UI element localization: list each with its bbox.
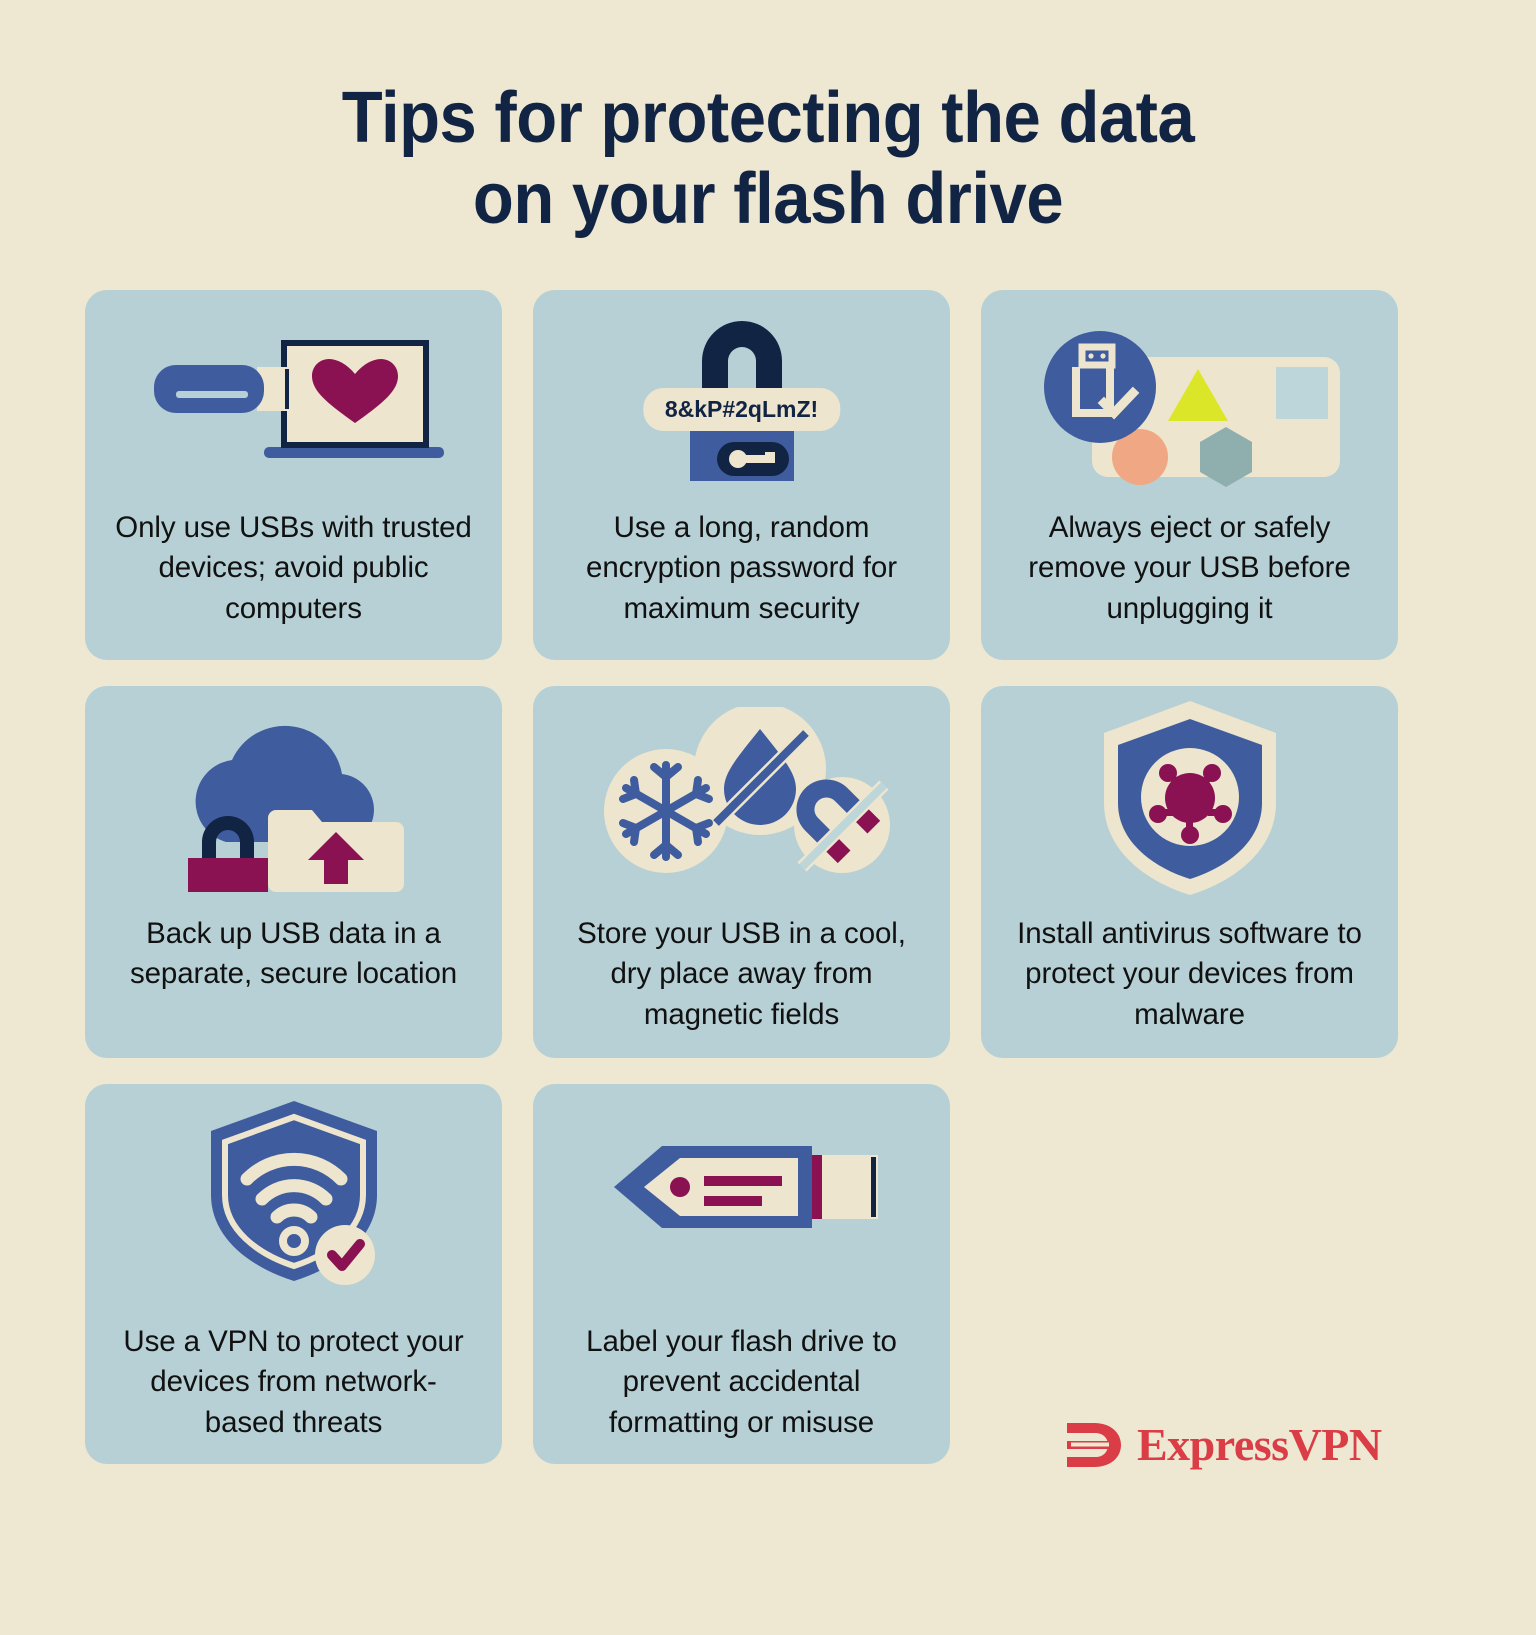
tip-card-store-cool-dry: Store your USB in a cool, dry place away…: [533, 686, 950, 1058]
title-line-2: on your flash drive: [54, 159, 1482, 240]
page-title: Tips for protecting the data on your fla…: [0, 0, 1536, 239]
tips-grid: Only use USBs with trusted devices; avoi…: [85, 290, 1397, 1464]
tip-card-install-antivirus: Install antivirus software to protect yo…: [981, 686, 1398, 1058]
infographic-page: Tips for protecting the data on your fla…: [0, 0, 1536, 1635]
tip-card-text: Use a long, random encryption password f…: [533, 508, 950, 629]
tip-card-usb-trusted-devices: Only use USBs with trusted devices; avoi…: [85, 290, 502, 660]
tip-card-text: Install antivirus software to protect yo…: [981, 908, 1398, 1035]
tip-card-use-a-vpn: Use a VPN to protect your devices from n…: [85, 1084, 502, 1464]
snowflake-water-magnet-icon: [533, 686, 950, 908]
tip-card-text: Store your USB in a cool, dry place away…: [533, 908, 950, 1035]
tip-card-text: Label your flash drive to prevent accide…: [533, 1296, 950, 1443]
tip-card-safely-eject: Always eject or safely remove your USB b…: [981, 290, 1398, 660]
expressvpn-wordmark: ExpressVPN: [1137, 1422, 1382, 1468]
usb-label-tag-icon: [533, 1084, 950, 1296]
tip-card-text: Always eject or safely remove your USB b…: [981, 508, 1398, 629]
padlock-password-icon: 8&kP#2qLmZ!: [533, 290, 950, 508]
expressvpn-swoosh-icon: [1065, 1420, 1123, 1470]
usb-eject-check-icon: [981, 290, 1398, 508]
tip-card-label-flash-drive: Label your flash drive to prevent accide…: [533, 1084, 950, 1464]
title-line-1: Tips for protecting the data: [54, 78, 1482, 159]
shield-wifi-check-icon: [85, 1084, 502, 1296]
tip-card-backup-usb-data: Back up USB data in a separate, secure l…: [85, 686, 502, 1058]
tip-card-text: Use a VPN to protect your devices from n…: [85, 1296, 502, 1443]
password-label: 8&kP#2qLmZ!: [665, 396, 818, 422]
expressvpn-logo[interactable]: ExpressVPN: [1065, 1420, 1382, 1470]
tip-card-encryption-password: 8&kP#2qLmZ! Use a long, random encryptio…: [533, 290, 950, 660]
tip-card-text: Back up USB data in a separate, secure l…: [85, 908, 502, 995]
tip-card-text: Only use USBs with trusted devices; avoi…: [85, 508, 502, 629]
cloud-lock-upload-icon: [85, 686, 502, 908]
shield-virus-icon: [981, 686, 1398, 908]
usb-laptop-heart-icon: [85, 290, 502, 508]
